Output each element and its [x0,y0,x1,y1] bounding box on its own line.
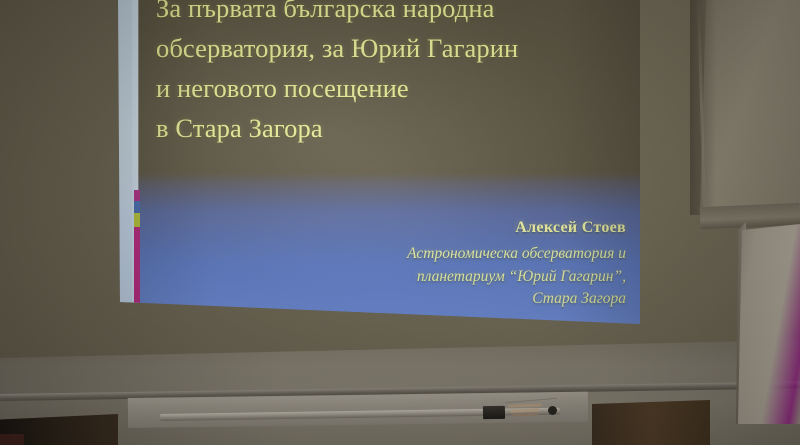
marker-cap [548,406,557,415]
whiteboard-eraser [483,406,505,419]
slide-title-line-1: За първата българска народна [156,0,626,28]
slide-title-line-3: и неговото посещение [156,68,626,108]
slide-title: За първата българска народна обсерватори… [156,0,626,148]
projected-slide: в Стара Загора в Стара Загора За първата… [118,0,640,338]
wall-cabinet-panel [738,224,800,424]
slide-affiliation-line-1: Астрономическа обсерватория и [208,243,626,266]
door-right-dark [592,400,710,445]
accent-segment-magenta-top [134,190,140,201]
cabinet-top-trim [700,203,800,229]
slide-author-name: Алексей Стоев [238,219,626,237]
projected-slide-photo: в Стара Загора в Стара Загора За първата… [0,0,800,445]
slide-affiliation-line-2: планетариум “Юрий Гагарин”, [208,266,626,289]
slide-affiliation-line-3: Стара Загора [208,288,626,311]
slide-title-line-2: обсерватория, за Юрий Гагарин [156,28,626,68]
accent-segment-lime [134,213,140,227]
accent-segment-blue [134,201,140,213]
slide-affiliation: Астрономическа обсерватория и планетариу… [208,243,626,311]
slide-title-line-4: в Стара Загора [156,108,626,148]
door-left-red-object [0,434,24,445]
